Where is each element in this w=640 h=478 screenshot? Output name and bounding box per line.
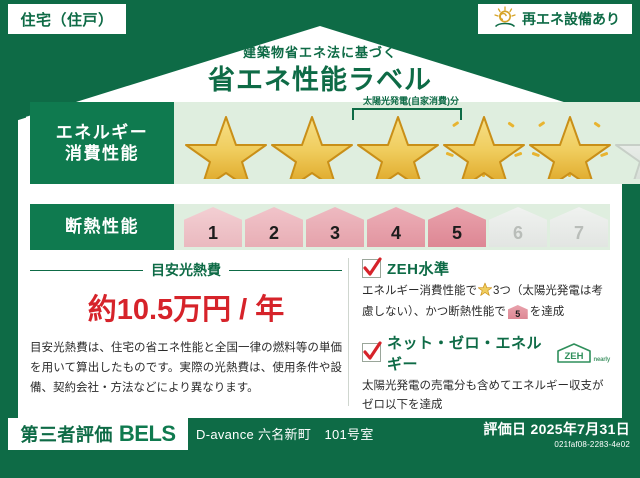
criteria-net-zero-energy: ネット・ゼロ・エネルギー ZEH nearly 太陽光発電の売電分も含めてエネル… bbox=[362, 332, 610, 415]
criteria-zeh-standard-desc: エネルギー消費性能で 3つ（太陽光発電は考慮しない）、かつ断熱性能で5を達成 bbox=[362, 282, 610, 322]
bels-certification-chip: 第三者評価 BELS bbox=[8, 418, 188, 450]
renewable-equipment-label: 再エネ設備あり bbox=[522, 9, 620, 29]
heading-rule-right bbox=[229, 270, 342, 271]
inline-star-icon bbox=[478, 282, 492, 303]
insulation-level-5: 5 bbox=[428, 207, 486, 247]
checkbox-checked-icon[interactable] bbox=[362, 259, 381, 278]
building-name: D-avance 六名新町 101号室 bbox=[196, 424, 374, 443]
lower-content: 目安光熱費 約10.5万円 / 年 目安光熱費は、住宅の省エネ性能と全国一律の燃… bbox=[30, 258, 610, 408]
bels-mark: BELS bbox=[119, 421, 176, 447]
criteria-net-zero-energy-title: ネット・ゼロ・エネルギー bbox=[387, 332, 545, 374]
insulation-performance-body: 1 2 3 4 5 6 7 bbox=[174, 204, 610, 250]
footer-bar: 第三者評価 BELS D-avance 六名新町 101号室 評価日 2025年… bbox=[0, 418, 640, 478]
star-1-filled bbox=[184, 107, 268, 179]
insulation-level-1: 1 bbox=[184, 207, 242, 247]
zeh-desc-stars: 3つ（太陽光発電 bbox=[493, 285, 580, 297]
heading-rule-left bbox=[30, 270, 143, 271]
utility-cost-section: 目安光熱費 約10.5万円 / 年 目安光熱費は、住宅の省エネ性能と全国一律の燃… bbox=[30, 258, 342, 408]
utility-cost-note: 目安光熱費は、住宅の省エネ性能と全国一律の燃料等の単価を用いて算出したものです。… bbox=[30, 338, 342, 398]
criteria-zeh-standard-title: ZEH水準 bbox=[387, 258, 450, 279]
utility-cost-value: 約10.5万円 / 年 bbox=[30, 286, 342, 328]
criteria-zeh-standard-head: ZEH水準 bbox=[362, 258, 610, 279]
insulation-level-6: 6 bbox=[489, 207, 547, 247]
evaluation-id: 021faf08-2283-4e02 bbox=[483, 440, 630, 449]
insulation-performance-label-box: 断熱性能 bbox=[30, 204, 174, 250]
evaluation-date: 評価日 2025年7月31日 bbox=[483, 419, 630, 439]
housing-type-label: 住宅（住戸） bbox=[20, 9, 113, 30]
housing-type-chip: 住宅（住戸） bbox=[8, 4, 126, 34]
criteria-net-zero-energy-head: ネット・ゼロ・エネルギー ZEH nearly bbox=[362, 332, 610, 374]
energy-performance-label: 住宅（住戸） 再エネ設備あり 建築物省エネ法に基づく 省エネ性能ラベル bbox=[0, 0, 640, 478]
solar-sun-icon bbox=[492, 6, 518, 33]
inline-insulation-badge: 5 bbox=[508, 305, 528, 319]
page-title: 省エネ性能ラベル bbox=[0, 58, 640, 97]
renewable-equipment-chip: 再エネ設備あり bbox=[478, 4, 632, 34]
energy-label-line1: エネルギー bbox=[56, 122, 149, 143]
utility-cost-heading: 目安光熱費 bbox=[30, 260, 342, 280]
criteria-net-zero-energy-desc: 太陽光発電の売電分も含めてエネルギー収支がゼロ以下を達成 bbox=[362, 377, 610, 415]
solar-bracket bbox=[352, 108, 462, 120]
zeh-desc-part3: を達成 bbox=[530, 306, 565, 318]
insulation-level-7: 7 bbox=[550, 207, 608, 247]
utility-cost-heading-text: 目安光熱費 bbox=[151, 260, 221, 280]
energy-label-line2: 消費性能 bbox=[65, 143, 139, 164]
insulation-level-2: 2 bbox=[245, 207, 303, 247]
zeh-logo: ZEH nearly bbox=[555, 342, 610, 364]
svg-text:ZEH: ZEH bbox=[564, 351, 583, 362]
zeh-desc-part1: エネルギー消費性能で bbox=[362, 285, 477, 297]
star-2-filled bbox=[270, 107, 354, 179]
star-5-filled-solar bbox=[528, 107, 612, 179]
energy-performance-label-box: エネルギー 消費性能 bbox=[30, 102, 174, 184]
insulation-level-3: 3 bbox=[306, 207, 364, 247]
insulation-label: 断熱性能 bbox=[65, 216, 139, 237]
third-party-evaluation-label: 第三者評価 bbox=[20, 421, 113, 447]
evaluation-info: 評価日 2025年7月31日 021faf08-2283-4e02 bbox=[483, 419, 630, 449]
insulation-performance-row: 断熱性能 1 2 3 4 5 6 7 bbox=[30, 204, 610, 250]
criteria-section: ZEH水準 エネルギー消費性能で 3つ（太陽光発電は考慮しない）、かつ断熱性能で… bbox=[362, 258, 610, 408]
section-divider bbox=[348, 258, 349, 406]
star-6-empty bbox=[614, 107, 640, 179]
checkbox-checked-icon[interactable] bbox=[362, 343, 381, 362]
energy-performance-body: 太陽光発電(自家消費)分 bbox=[174, 102, 640, 184]
energy-performance-row: エネルギー 消費性能 太陽光発電(自家消費)分 bbox=[30, 102, 610, 184]
insulation-level-4: 4 bbox=[367, 207, 425, 247]
insulation-level-strip: 1 2 3 4 5 6 7 bbox=[174, 207, 608, 247]
zeh-logo-sub: nearly bbox=[594, 357, 610, 364]
criteria-zeh-standard: ZEH水準 エネルギー消費性能で 3つ（太陽光発電は考慮しない）、かつ断熱性能で… bbox=[362, 258, 610, 322]
solar-bracket-label: 太陽光発電(自家消費)分 bbox=[326, 94, 496, 107]
